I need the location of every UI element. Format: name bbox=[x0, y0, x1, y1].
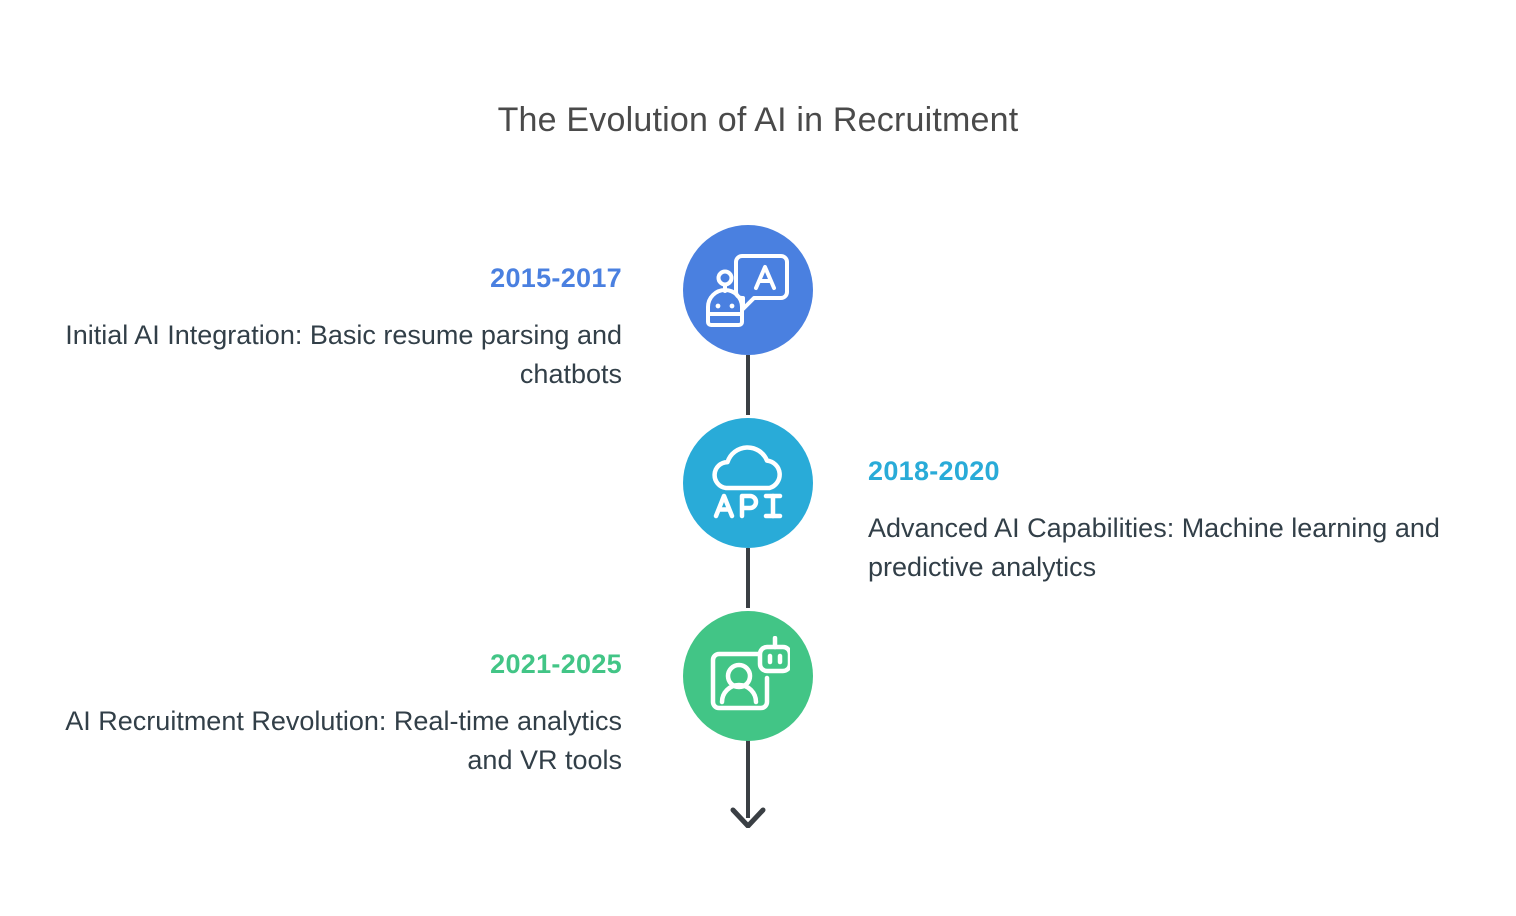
spine-segment-above-node-1 bbox=[746, 355, 750, 415]
timeline-entry-description: Advanced AI Capabilities: Machine learni… bbox=[868, 509, 1468, 586]
timeline-entry-description: AI Recruitment Revolution: Real-time ana… bbox=[42, 702, 622, 779]
timeline-node-2015-2017[interactable] bbox=[683, 225, 813, 355]
timeline-entry-description: Initial AI Integration: Basic resume par… bbox=[42, 316, 622, 393]
timeline-entry-date: 2018-2020 bbox=[868, 455, 1468, 487]
timeline-arrow-down-icon bbox=[724, 794, 772, 828]
timeline-entry-date: 2015-2017 bbox=[42, 262, 622, 294]
spine-segment-below-node-3 bbox=[746, 740, 750, 802]
timeline-entry-2021-2025: 2021-2025 AI Recruitment Revolution: Rea… bbox=[42, 648, 622, 779]
api-cloud-icon bbox=[704, 444, 792, 522]
candidate-profile-robot-icon bbox=[706, 636, 790, 716]
page-title: The Evolution of AI in Recruitment bbox=[0, 100, 1516, 141]
timeline-node-2021-2025[interactable] bbox=[683, 611, 813, 741]
chatbot-speech-bubble-icon bbox=[705, 250, 791, 330]
timeline-node-2018-2020[interactable] bbox=[683, 418, 813, 548]
timeline-entry-2015-2017: 2015-2017 Initial AI Integration: Basic … bbox=[42, 262, 622, 393]
timeline-entry-date: 2021-2025 bbox=[42, 648, 622, 680]
spine-segment-between-node-1-and-2 bbox=[746, 548, 750, 608]
timeline-entry-2018-2020: 2018-2020 Advanced AI Capabilities: Mach… bbox=[868, 455, 1468, 586]
